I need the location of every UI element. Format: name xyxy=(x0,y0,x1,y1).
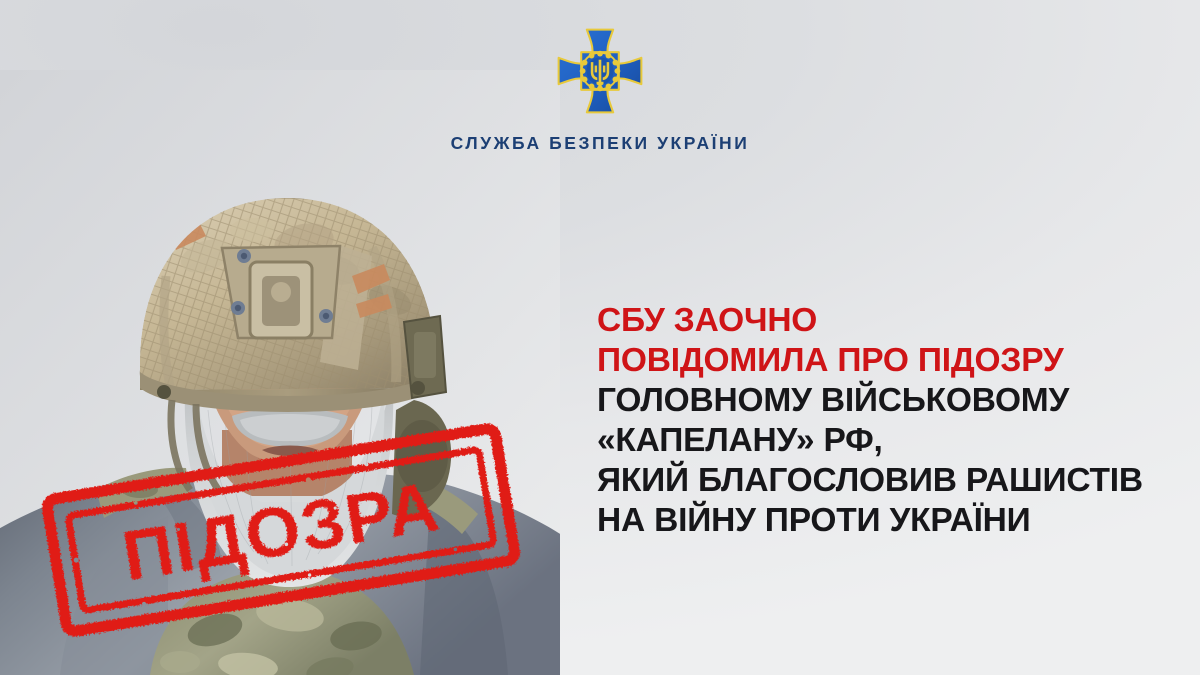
brand-block: СЛУЖБА БЕЗПЕКИ УКРАЇНИ xyxy=(0,24,1200,154)
headline-line-4: «КАПЕЛАНУ» РФ, xyxy=(597,421,1197,461)
headline-line-1: СБУ ЗАОЧНО xyxy=(597,301,1197,341)
headline-line-2: ПОВІДОМИЛА ПРО ПІДОЗРУ xyxy=(597,341,1197,381)
headline-line-5: ЯКИЙ БЛАГОСЛОВИВ РАШИСТІВ xyxy=(597,461,1197,501)
poster-canvas: СЛУЖБА БЕЗПЕКИ УКРАЇНИ СБУ ЗАОЧНО ПОВІДО… xyxy=(0,0,1200,675)
sbu-cross-emblem-icon xyxy=(553,24,647,118)
headline-line-6: НА ВІЙНУ ПРОТИ УКРАЇНИ xyxy=(597,501,1197,541)
headline-block: СБУ ЗАОЧНО ПОВІДОМИЛА ПРО ПІДОЗРУ ГОЛОВН… xyxy=(597,301,1197,541)
brand-name: СЛУЖБА БЕЗПЕКИ УКРАЇНИ xyxy=(451,133,750,154)
headline-line-3: ГОЛОВНОМУ ВІЙСЬКОВОМУ xyxy=(597,381,1197,421)
